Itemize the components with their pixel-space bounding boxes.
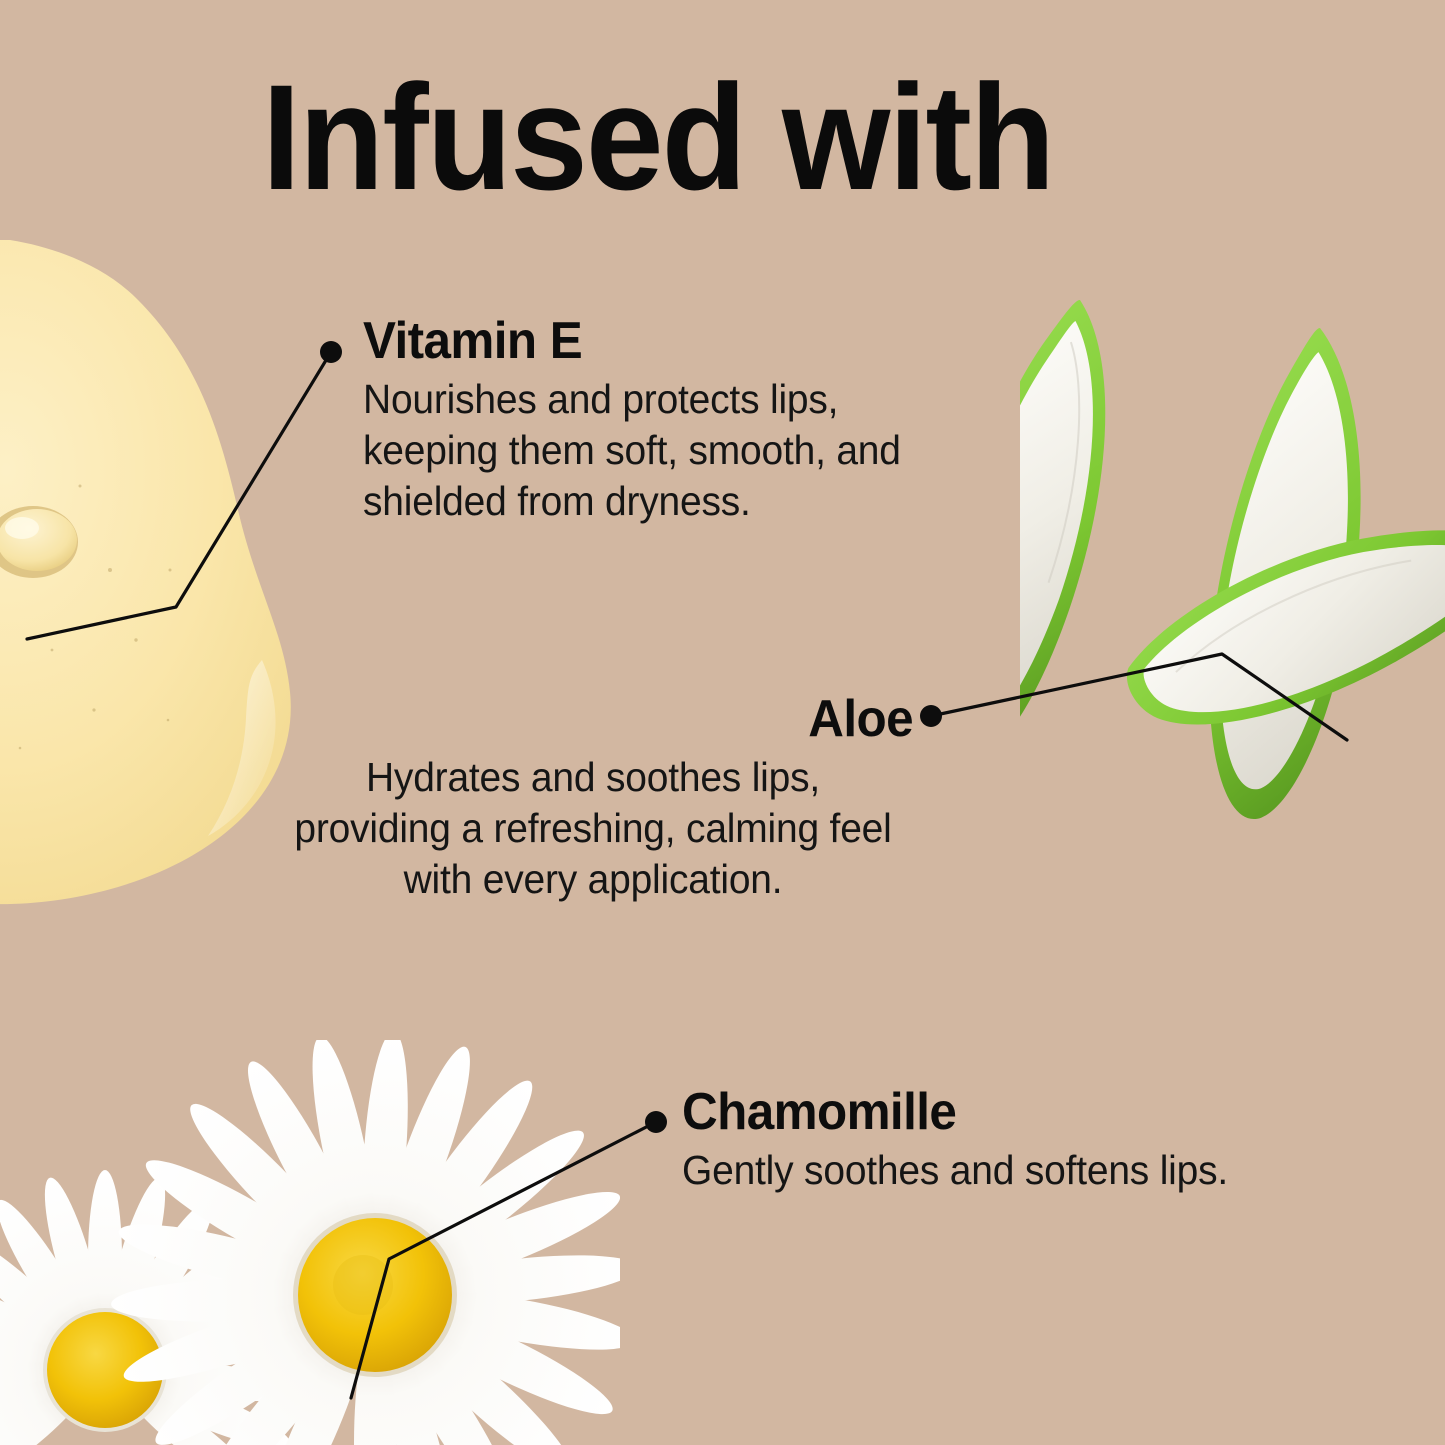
ingredient-description-chamomille: Gently soothes and softens lips. [682, 1145, 1290, 1196]
ingredient-block-vitamin-e: Vitamin E Nourishes and protects lips, k… [363, 312, 983, 527]
leader-dot-chamomille [645, 1111, 667, 1133]
ingredient-block-chamomille: Chamomille Gently soothes and softens li… [682, 1083, 1322, 1196]
ingredient-description-aloe: Hydrates and soothes lips, providing a r… [289, 752, 897, 905]
leader-line-vitamin-e [27, 352, 331, 639]
ingredient-block-aloe: Aloe Hydrates and soothes lips, providin… [273, 690, 913, 905]
ingredient-name-aloe: Aloe [305, 690, 913, 748]
leader-line-chamomille [351, 1122, 656, 1398]
ingredient-description-vitamin-e: Nourishes and protects lips, keeping the… [363, 374, 952, 527]
leader-dot-vitamin-e [320, 341, 342, 363]
ingredient-name-vitamin-e: Vitamin E [363, 312, 952, 370]
ingredient-name-chamomille: Chamomille [682, 1083, 1290, 1141]
leader-dot-aloe [920, 705, 942, 727]
leader-line-aloe [931, 654, 1347, 740]
infographic-canvas: Infused with Vitamin E Nourishes and pro… [0, 0, 1445, 1445]
page-title: Infused with [262, 62, 1053, 212]
